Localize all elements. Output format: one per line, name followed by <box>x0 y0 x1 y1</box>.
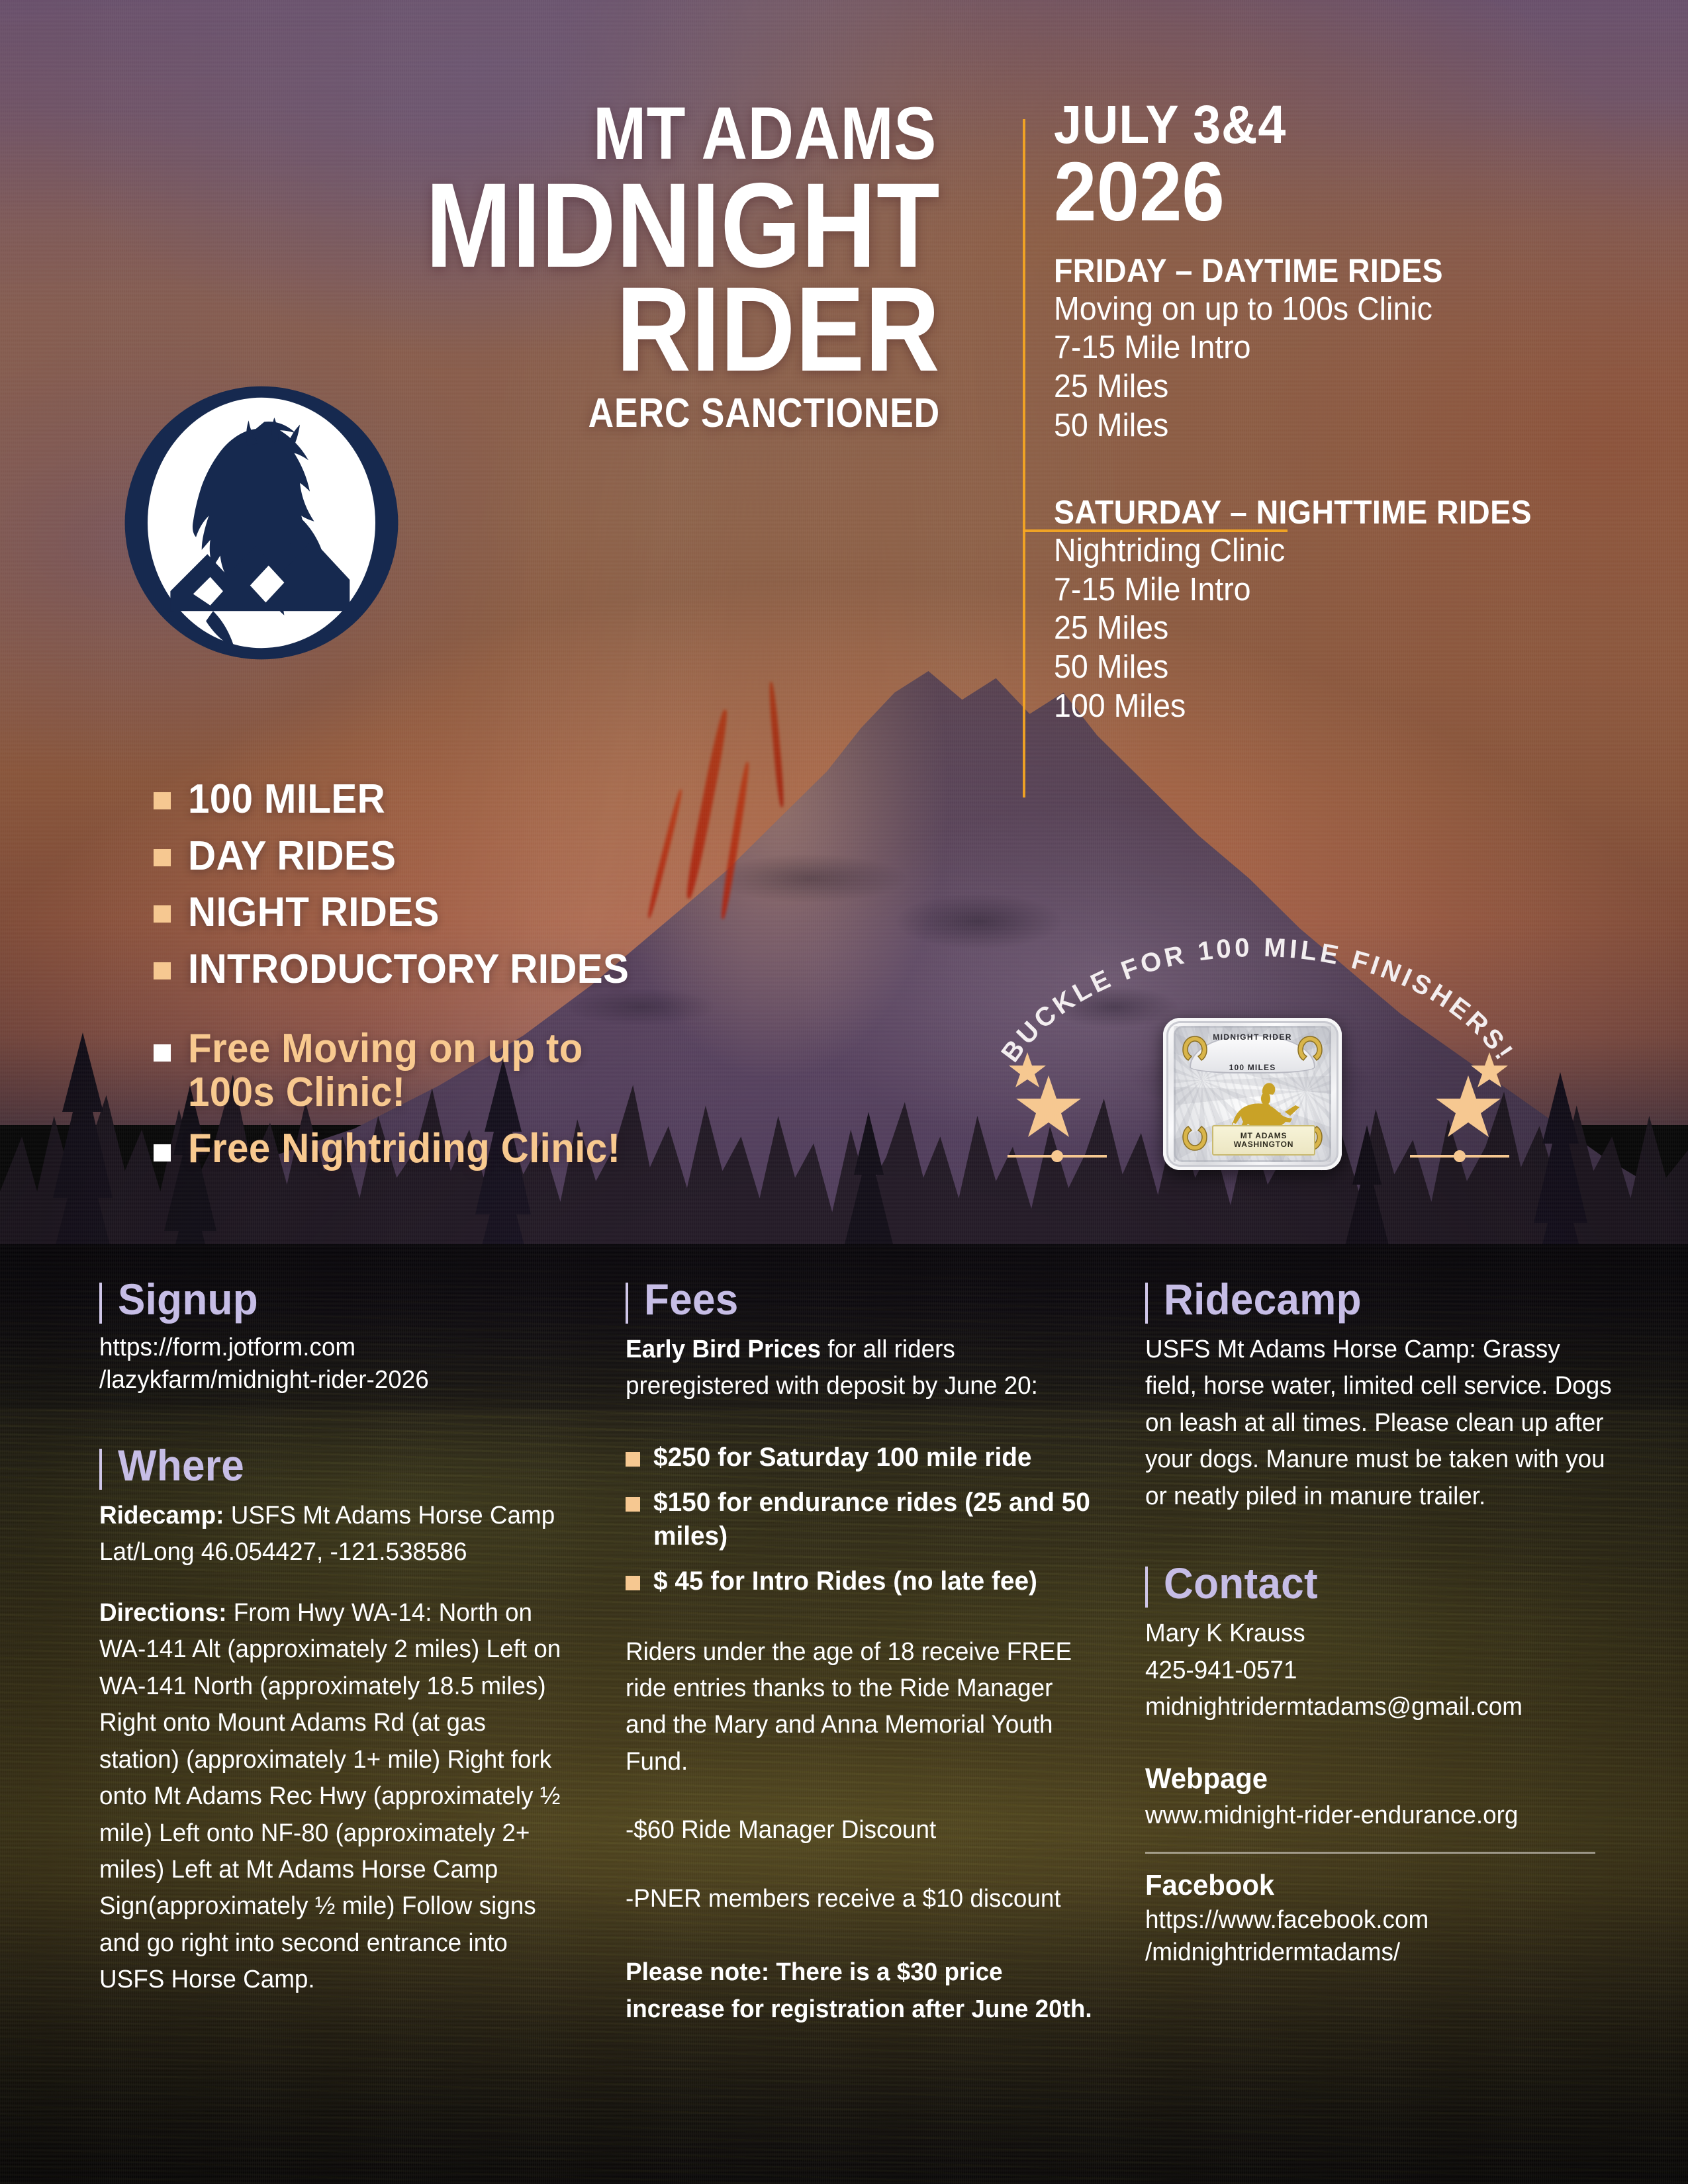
saturday-item: 100 Miles <box>1054 687 1620 726</box>
event-year: 2026 <box>1054 152 1602 232</box>
fee-label: $150 for endurance rides (25 and 50 mile… <box>653 1486 1095 1553</box>
feature-list: 100 MILER DAY RIDES NIGHT RIDES INTRODUC… <box>154 778 948 1184</box>
ride-manager-discount: -$60 Ride Manager Discount <box>626 1812 1094 1848</box>
schedule-panel: JULY 3&4 2026 FRIDAY – DAYTIME RIDES Mov… <box>1054 99 1650 726</box>
directions-block: Directions: From Hwy WA-14: North on WA-… <box>99 1595 568 1999</box>
bullet-square-icon <box>154 792 171 809</box>
price-increase-note: Please note: There is a $30 price increa… <box>626 1954 1094 2028</box>
ridecamp-value: USFS Mt Adams Horse Camp <box>231 1502 555 1529</box>
feature-label: NIGHT RIDES <box>188 891 440 934</box>
feature-label: DAY RIDES <box>188 835 396 878</box>
section-heading-where: Where <box>99 1443 583 1487</box>
friday-item: Moving on up to 100s Clinic <box>1054 290 1620 329</box>
spacer <box>99 1397 583 1443</box>
saturday-item: 25 Miles <box>1054 609 1620 648</box>
section-heading-contact: Contact <box>1145 1561 1628 1605</box>
fees-list: $250 for Saturday 100 mile ride $150 for… <box>626 1441 1109 1598</box>
feature-label: INTRODUCTORY RIDES <box>188 948 629 991</box>
ridecamp-line: Ridecamp: USFS Mt Adams Horse Camp <box>99 1498 568 1534</box>
spacer <box>626 1405 1109 1437</box>
saturday-schedule: SATURDAY – NIGHTTIME RIDES Nightriding C… <box>1054 493 1650 726</box>
horseshoe-icon <box>1180 1124 1209 1153</box>
facebook-label: Facebook <box>1145 1870 1605 1901</box>
spacer <box>626 1610 1109 1634</box>
spacer <box>1145 1515 1628 1561</box>
bullet-square-icon <box>154 962 171 979</box>
bullet-square-icon <box>154 1144 171 1161</box>
fee-item: $ 45 for Intro Rides (no late fee) <box>626 1565 1109 1598</box>
poster-content: MT ADAMS MIDNIGHT RIDER AERC SANCTIONED <box>0 0 1688 2184</box>
section-heading-fees: Fees <box>626 1277 1109 1321</box>
bullet-square-icon <box>626 1497 640 1512</box>
feature-item: 100 MILER <box>154 778 948 821</box>
bullet-square-icon <box>626 1452 640 1467</box>
ridecamp-heading-label: Ridecamp <box>1164 1277 1362 1321</box>
heading-accent-bar <box>626 1283 628 1324</box>
feature-label: 100 MILER <box>188 778 385 821</box>
column-right: Ridecamp USFS Mt Adams Horse Camp: Grass… <box>1145 1277 1628 1970</box>
saturday-item: Nightriding Clinic <box>1054 531 1620 570</box>
spacer <box>626 1917 1109 1954</box>
signup-url-line2[interactable]: /lazykfarm/midnight-rider-2026 <box>99 1364 568 1396</box>
saturday-item: 50 Miles <box>1054 648 1620 687</box>
contact-phone[interactable]: 425-941-0571 <box>1145 1653 1614 1689</box>
star-decoration-right <box>1397 1046 1516 1178</box>
buckle-award-graphic: BUCKLE FOR 100 MILE FINISHERS! <box>960 927 1556 1211</box>
signup-heading-label: Signup <box>118 1277 258 1321</box>
belt-buckle: MIDNIGHT RIDER 100 MILES <box>1163 1018 1342 1170</box>
where-heading-label: Where <box>118 1443 244 1487</box>
heading-accent-bar <box>99 1449 102 1490</box>
contact-name: Mary K Krauss <box>1145 1615 1614 1652</box>
title-line-rider: RIDER <box>132 274 940 385</box>
info-columns: Signup https://form.jotform.com /lazykfa… <box>0 1277 1688 2164</box>
buckle-miles-text: 100 MILES <box>1174 1063 1331 1072</box>
contact-divider <box>1145 1852 1595 1854</box>
bullet-square-icon <box>154 849 171 866</box>
spacer <box>626 1849 1109 1881</box>
ridecamp-description: USFS Mt Adams Horse Camp: Grassy field, … <box>1145 1332 1614 1515</box>
schedule-vertical-rule <box>1023 119 1025 797</box>
feature-list-gap <box>154 1005 948 1027</box>
webpage-url[interactable]: www.midnight-rider-endurance.org <box>1145 1797 1614 1834</box>
feature-item: NIGHT RIDES <box>154 891 948 934</box>
heading-accent-bar <box>99 1283 102 1324</box>
friday-heading: FRIDAY – DAYTIME RIDES <box>1054 251 1608 290</box>
directions-label: Directions: <box>99 1599 227 1627</box>
ridecamp-label: Ridecamp: <box>99 1502 224 1529</box>
spacer <box>99 1571 583 1595</box>
facebook-url-line1[interactable]: https://www.facebook.com <box>1145 1904 1614 1936</box>
buckle-inner-plate: MIDNIGHT RIDER 100 MILES <box>1174 1026 1331 1162</box>
ridecamp-latlong: Lat/Long 46.054427, -121.538586 <box>99 1534 568 1570</box>
fees-heading-label: Fees <box>644 1277 739 1321</box>
feature-item: DAY RIDES <box>154 835 948 878</box>
horseshoe-icon <box>1295 1034 1325 1063</box>
fee-item: $150 for endurance rides (25 and 50 mile… <box>626 1486 1109 1553</box>
column-left: Signup https://form.jotform.com /lazykfa… <box>99 1277 583 1999</box>
heading-accent-bar <box>1145 1567 1148 1608</box>
fee-label: $250 for Saturday 100 mile ride <box>653 1441 1032 1474</box>
heading-accent-bar <box>1145 1283 1148 1324</box>
buckle-name-plate: MT ADAMS WASHINGTON <box>1212 1125 1315 1156</box>
webpage-label: Webpage <box>1145 1763 1605 1795</box>
feature-label: Free Moving on up to 100s Clinic! <box>188 1027 629 1114</box>
feature-item-clinic: Free Nightriding Clinic! <box>154 1127 948 1171</box>
saturday-item: 7-15 Mile Intro <box>1054 570 1620 610</box>
friday-schedule: FRIDAY – DAYTIME RIDES Moving on up to 1… <box>1054 251 1650 445</box>
fee-label: $ 45 for Intro Rides (no late fee) <box>653 1565 1037 1598</box>
horse-head-logo-icon <box>119 381 404 665</box>
facebook-url-line2[interactable]: /midnightridermtadams/ <box>1145 1936 1614 1969</box>
feature-item-clinic: Free Moving on up to 100s Clinic! <box>154 1027 657 1114</box>
bullet-square-icon <box>154 1044 171 1062</box>
youth-fund-note: Riders under the age of 18 receive FREE … <box>626 1634 1094 1781</box>
contact-heading-label: Contact <box>1164 1561 1318 1605</box>
buckle-plate-line2: WASHINGTON <box>1234 1140 1293 1149</box>
directions-value: From Hwy WA-14: North on WA-141 Alt (app… <box>99 1599 561 1994</box>
friday-item: 25 Miles <box>1054 367 1620 406</box>
signup-url-line1[interactable]: https://form.jotform.com <box>99 1332 568 1364</box>
event-date: JULY 3&4 <box>1054 99 1602 151</box>
feature-label: Free Nightriding Clinic! <box>188 1127 620 1171</box>
fee-item: $250 for Saturday 100 mile ride <box>626 1441 1109 1474</box>
pner-discount: -PNER members receive a $10 discount <box>626 1881 1094 1917</box>
contact-email[interactable]: midnightridermtadams@gmail.com <box>1145 1689 1614 1725</box>
bullet-square-icon <box>154 905 171 923</box>
horseshoe-icon <box>1180 1034 1209 1063</box>
spacer <box>626 1780 1109 1812</box>
friday-item: 7-15 Mile Intro <box>1054 328 1620 367</box>
fees-intro-bold: Early Bird Prices <box>626 1336 821 1363</box>
section-heading-ridecamp: Ridecamp <box>1145 1277 1628 1321</box>
fees-intro: Early Bird Prices for all riders preregi… <box>626 1332 1094 1405</box>
section-heading-signup: Signup <box>99 1277 583 1321</box>
spacer <box>1145 1726 1628 1763</box>
saturday-heading: SATURDAY – NIGHTTIME RIDES <box>1054 493 1608 531</box>
bullet-square-icon <box>626 1576 640 1590</box>
poster: MT ADAMS MIDNIGHT RIDER AERC SANCTIONED <box>0 0 1688 2184</box>
column-middle: Fees Early Bird Prices for all riders pr… <box>626 1277 1109 2028</box>
star-decoration-left <box>1001 1046 1120 1178</box>
friday-item: 50 Miles <box>1054 406 1620 445</box>
feature-item: INTRODUCTORY RIDES <box>154 948 948 991</box>
